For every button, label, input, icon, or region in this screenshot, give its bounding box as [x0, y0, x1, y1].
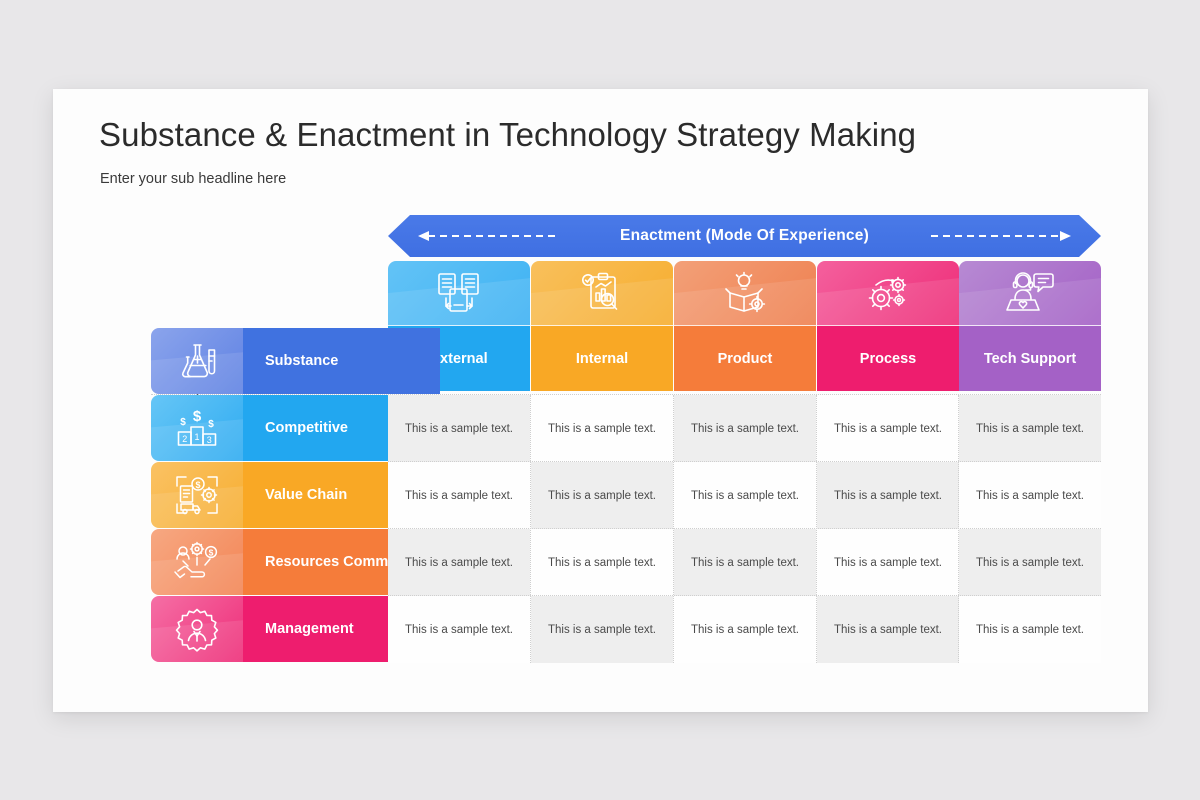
cell-text: This is a sample text. — [834, 423, 942, 435]
column-label-band-2: Product — [674, 325, 816, 391]
clipboard-analysis-icon — [580, 271, 624, 315]
cell-text: This is a sample text. — [548, 624, 656, 636]
grid-divider — [958, 395, 959, 663]
enactment-banner: Enactment (Mode Of Experience) — [388, 215, 1101, 257]
cell-text: This is a sample text. — [976, 490, 1084, 502]
box-lightbulb-gear-icon — [722, 272, 768, 314]
cell-text: This is a sample text. — [834, 490, 942, 502]
cell-text: This is a sample text. — [405, 557, 513, 569]
column-label-band-1: Internal — [531, 325, 673, 391]
grid-divider — [530, 395, 531, 663]
table-cell[interactable]: This is a sample text. — [817, 462, 959, 529]
row-label-band-0: Substance — [243, 328, 440, 394]
svg-text:3: 3 — [207, 435, 212, 445]
gears-process-icon — [864, 273, 912, 313]
table-cell[interactable]: This is a sample text. — [674, 462, 816, 529]
dashed-arrow-left-icon — [418, 231, 558, 242]
hand-resources-icon: $ — [174, 542, 220, 582]
table-cell[interactable]: This is a sample text. — [388, 395, 530, 462]
table-cell[interactable]: This is a sample text. — [531, 529, 673, 596]
cell-text: This is a sample text. — [548, 557, 656, 569]
grid-divider — [388, 595, 1101, 596]
column-icon-tile-4 — [959, 261, 1101, 325]
slide-card: Substance & Enactment in Technology Stra… — [53, 89, 1148, 712]
cell-text: This is a sample text. — [834, 624, 942, 636]
cell-text: This is a sample text. — [691, 557, 799, 569]
cell-text: This is a sample text. — [691, 624, 799, 636]
page-title: Substance & Enactment in Technology Stra… — [99, 116, 916, 154]
svg-text:2: 2 — [182, 434, 187, 444]
grid-divider — [673, 395, 674, 663]
cell-text: This is a sample text. — [548, 490, 656, 502]
table-cell[interactable]: This is a sample text. — [959, 462, 1101, 529]
documents-exchange-icon — [436, 272, 482, 314]
svg-text:$: $ — [208, 419, 214, 430]
table-cell[interactable]: This is a sample text. — [959, 596, 1101, 663]
grid-divider — [388, 461, 1101, 462]
row-header-0[interactable]: Substance — [151, 328, 440, 394]
column-label-1: Internal — [576, 351, 628, 367]
cell-text: This is a sample text. — [976, 557, 1084, 569]
column-icon-tile-2 — [674, 261, 816, 325]
support-agent-icon — [1006, 272, 1054, 314]
svg-text:1: 1 — [194, 432, 199, 442]
column-header-3[interactable]: Process — [817, 261, 959, 391]
svg-text:$: $ — [195, 480, 200, 490]
column-icon-tile-1 — [531, 261, 673, 325]
row-icon-tile-2: $ — [151, 462, 243, 528]
table-cell[interactable]: This is a sample text. — [388, 529, 530, 596]
column-icon-tile-3 — [817, 261, 959, 325]
table-cell[interactable]: This is a sample text. — [959, 529, 1101, 596]
cell-text: This is a sample text. — [976, 624, 1084, 636]
slide-canvas: Substance & Enactment in Technology Stra… — [0, 0, 1200, 800]
column-header-2[interactable]: Product — [674, 261, 816, 391]
table-cell[interactable]: This is a sample text. — [674, 529, 816, 596]
row-icon-tile-4 — [151, 596, 243, 662]
lab-flask-icon — [177, 341, 217, 381]
svg-text:$: $ — [180, 417, 186, 428]
dashed-arrow-right-icon — [931, 231, 1071, 242]
table-cell[interactable]: This is a sample text. — [388, 462, 530, 529]
cell-text: This is a sample text. — [405, 490, 513, 502]
grid-divider — [388, 528, 1101, 529]
cell-text: This is a sample text. — [548, 423, 656, 435]
column-label-band-4: Tech Support — [959, 325, 1101, 391]
cell-text: This is a sample text. — [405, 624, 513, 636]
cell-text: This is a sample text. — [691, 423, 799, 435]
grid-divider — [816, 395, 817, 663]
cell-text: This is a sample text. — [834, 557, 942, 569]
column-header-1[interactable]: Internal — [531, 261, 673, 391]
table-cell[interactable]: This is a sample text. — [817, 596, 959, 663]
svg-text:$: $ — [209, 548, 214, 558]
table-cell[interactable]: This is a sample text. — [531, 395, 673, 462]
table-cell[interactable]: This is a sample text. — [531, 596, 673, 663]
table-cell[interactable]: This is a sample text. — [531, 462, 673, 529]
svg-text:$: $ — [193, 408, 202, 425]
column-label-band-3: Process — [817, 325, 959, 391]
row-label-2: Value Chain — [265, 487, 347, 503]
row-icon-tile-1: $ $ $ 1 2 3 — [151, 395, 243, 461]
gear-manager-icon — [176, 608, 218, 650]
column-label-4: Tech Support — [984, 351, 1076, 367]
podium-dollar-icon: $ $ $ 1 2 3 — [175, 408, 219, 448]
banner-label: Enactment (Mode Of Experience) — [620, 227, 869, 245]
cell-text: This is a sample text. — [976, 423, 1084, 435]
row-label-0: Substance — [265, 353, 338, 369]
cell-text: This is a sample text. — [405, 423, 513, 435]
row-label-1: Competitive — [265, 420, 348, 436]
table-cell[interactable]: This is a sample text. — [388, 596, 530, 663]
column-label-2: Product — [718, 351, 773, 367]
table-cell[interactable]: This is a sample text. — [674, 596, 816, 663]
supply-chain-icon: $ — [174, 474, 220, 516]
column-label-3: Process — [860, 351, 916, 367]
row-icon-tile-0 — [151, 328, 243, 394]
column-header-4[interactable]: Tech Support — [959, 261, 1101, 391]
page-subtitle: Enter your sub headline here — [100, 171, 286, 187]
table-cell[interactable]: This is a sample text. — [817, 395, 959, 462]
grid-divider — [151, 394, 1101, 395]
column-icon-tile-0 — [388, 261, 530, 325]
row-label-4: Management — [265, 621, 354, 637]
row-icon-tile-3: $ — [151, 529, 243, 595]
cell-text: This is a sample text. — [691, 490, 799, 502]
table-cell[interactable]: This is a sample text. — [674, 395, 816, 462]
table-cell[interactable]: This is a sample text. — [817, 529, 959, 596]
table-cell[interactable]: This is a sample text. — [959, 395, 1101, 462]
